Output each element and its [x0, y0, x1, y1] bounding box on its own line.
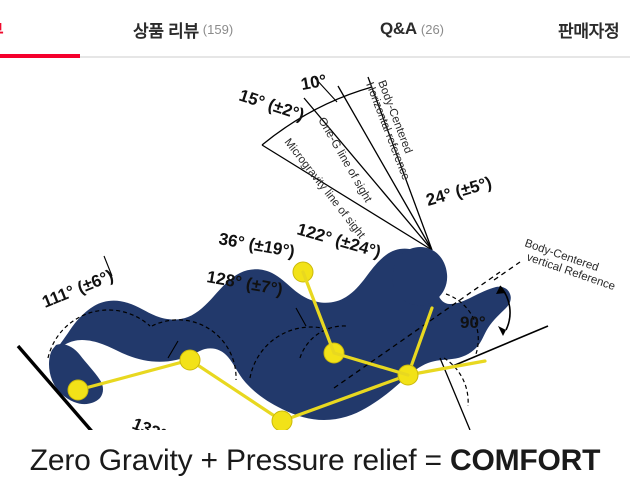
angle-label-neck: 122° (±24°) — [295, 220, 383, 262]
angle-label-head-tilt: 24° (±5°) — [424, 173, 494, 210]
neutral-body-posture-diagram: 111° (±6°) 133° (±8°) 128° (±7°) 36° (±1… — [0, 58, 630, 430]
angle-label-vertical: 90° — [460, 313, 486, 332]
caption-prefix: Zero Gravity + Pressure relief = — [30, 444, 450, 477]
angle-label-trunk: 36° (±19°) — [217, 229, 296, 261]
tab-label: 뷰 — [0, 17, 3, 42]
tab-qna[interactable]: Q&A (26) — [380, 0, 444, 58]
joint-hip — [272, 411, 292, 430]
tab-review-active[interactable]: 뷰 — [0, 0, 3, 58]
tab-product-review[interactable]: 상품 리뷰 (159) — [133, 0, 233, 58]
tab-count: (26) — [421, 22, 444, 37]
tab-label: Q&A — [380, 19, 417, 39]
tab-count: (159) — [203, 22, 233, 37]
body-silhouette — [49, 247, 511, 420]
tab-label: 판매자정 — [558, 17, 619, 42]
caption-text: Zero Gravity + Pressure relief = COMFORT — [30, 444, 600, 478]
caption-emphasis: COMFORT — [450, 444, 600, 477]
joint-knee — [180, 350, 200, 370]
tab-label: 상품 리뷰 — [133, 17, 199, 42]
tab-seller-info[interactable]: 판매자정 — [558, 0, 619, 58]
angle-label-sight-fifteen: 15° (±2°) — [237, 86, 307, 125]
caption-bar: Zero Gravity + Pressure relief = COMFORT — [0, 430, 630, 492]
angle-label-knee: 133° (±8°) — [130, 414, 208, 430]
product-tab-bar: 뷰 상품 리뷰 (159) Q&A (26) 판매자정 — [0, 0, 630, 58]
joint-ankle — [68, 380, 88, 400]
angle-label-sight-ten: 10° — [299, 71, 328, 94]
dashed-head-reference — [494, 262, 520, 280]
arrow-head-bottom — [498, 326, 506, 336]
